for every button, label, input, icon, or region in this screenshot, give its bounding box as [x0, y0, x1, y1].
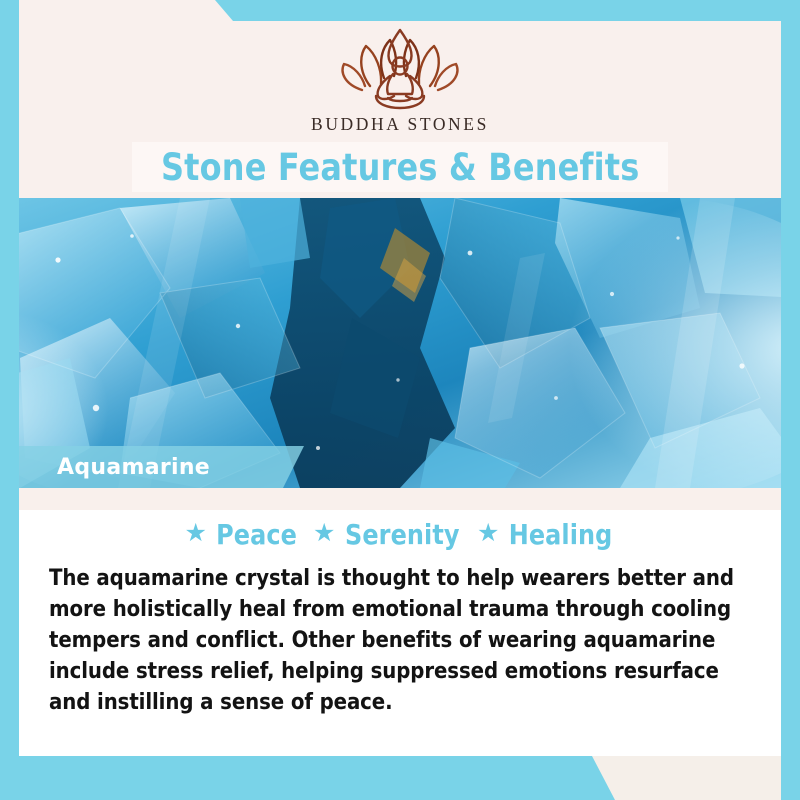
- header-section: BUDDHA STONES Stone Features & Benefits: [19, 0, 781, 198]
- brand-logo: BUDDHA STONES: [19, 24, 781, 135]
- keyword-item: ★ Healing: [477, 518, 616, 551]
- frame-right-bar: [781, 0, 800, 800]
- star-icon: ★: [313, 521, 335, 546]
- keyword-label: Healing: [509, 518, 613, 551]
- keyword-label: Peace: [216, 518, 297, 551]
- title-banner: Stone Features & Benefits: [132, 142, 668, 192]
- keyword-list: ★ Peace ★ Serenity ★ Healing: [19, 518, 781, 551]
- keyword-item: ★ Peace: [184, 518, 298, 551]
- lotus-meditation-figure-icon: [332, 24, 468, 112]
- stone-name-banner: Aquamarine: [19, 446, 304, 488]
- star-icon: ★: [184, 521, 206, 546]
- page-title: Stone Features & Benefits: [161, 146, 639, 189]
- content-divider: [19, 488, 781, 510]
- aquamarine-crystal-photo: Aquamarine: [0, 198, 800, 488]
- keyword-item: ★ Serenity: [313, 518, 463, 551]
- content-section: ★ Peace ★ Serenity ★ Healing The aquamar…: [19, 510, 781, 756]
- description-paragraph: The aquamarine crystal is thought to hel…: [49, 563, 740, 718]
- stone-name-label: Aquamarine: [57, 455, 210, 480]
- crystal-photo-artwork: [0, 198, 800, 488]
- star-icon: ★: [477, 521, 499, 546]
- frame-left-bar: [0, 0, 19, 800]
- keyword-label: Serenity: [345, 518, 460, 551]
- stone-info-poster: BUDDHA STONES Stone Features & Benefits: [0, 0, 800, 800]
- brand-name: BUDDHA STONES: [19, 114, 781, 135]
